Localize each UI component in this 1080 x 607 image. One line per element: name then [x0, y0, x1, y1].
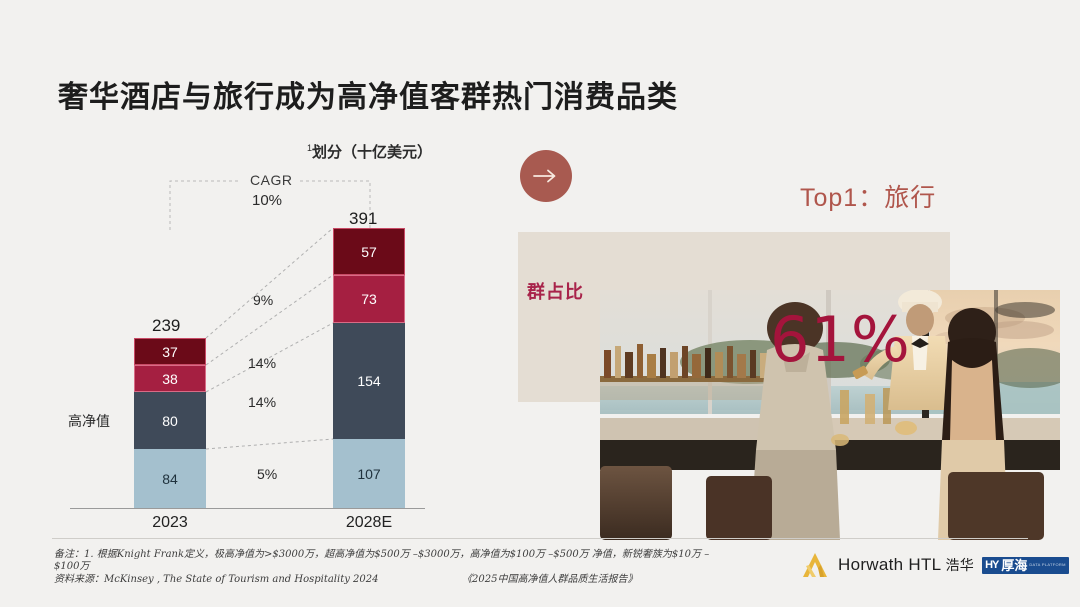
chart-connector-lines	[0, 0, 500, 540]
share-label: 群占比	[527, 278, 584, 304]
top1-heading: Top1：旅行	[800, 178, 936, 214]
cagr-label: CAGR	[250, 172, 292, 188]
logo-primary-label: Horwath HTL	[838, 555, 941, 574]
connector-cagr-3: 14%	[248, 394, 276, 410]
logo-row: Horwath HTL浩华 HY 厚海 DATA PLATFORM	[800, 552, 1069, 578]
chart-unit-text: 划分（十亿美元）	[312, 144, 432, 161]
bar-total-2023: 239	[152, 316, 180, 336]
bar-segment-2023-jigaojingzhi[interactable]: 37	[134, 338, 206, 365]
footnote-definition-line1: 备注：1. 根据Knight Frank定义，极高净值为>$3000万，超高净值…	[54, 545, 709, 560]
footer-divider	[52, 538, 1028, 539]
bar-column-2028[interactable]: 57 73 154 107	[333, 228, 405, 508]
houhai-cn-label: 厚海	[1001, 559, 1027, 572]
arrow-right-icon[interactable]	[520, 150, 572, 202]
bar-column-2023[interactable]: 37 38 80 84	[134, 338, 206, 508]
bar-segment-2028-jigaojingzhi[interactable]: 57	[333, 228, 405, 275]
bar-total-2028: 391	[349, 209, 377, 229]
percentage-value: 61%	[770, 303, 911, 376]
footnote-source: 资料来源：McKinsey , The State of Tourism and…	[54, 570, 379, 585]
footnote-report-title: 《2025中国高净值人群品质生活报告》	[462, 570, 637, 585]
axis-tick-2023: 2023	[120, 514, 220, 532]
connector-cagr-4: 5%	[257, 466, 277, 482]
arrow-right-glyph	[533, 169, 559, 183]
bar-segment-2023-xinruishezu[interactable]: 84	[134, 449, 206, 508]
cagr-value: 10%	[252, 192, 282, 209]
houhai-mark-label: HY	[985, 560, 998, 571]
chart-axis-line	[70, 508, 425, 509]
houhai-logo: HY 厚海 DATA PLATFORM	[982, 557, 1069, 574]
series-label-gaojingzhi: 高净值	[68, 411, 110, 431]
logo-primary-cn-label: 浩华	[945, 557, 974, 573]
bar-segment-2028-gaojingzhi[interactable]: 154	[333, 323, 405, 439]
bar-segment-2028-chaogaojingzhi[interactable]: 73	[333, 275, 405, 323]
connector-cagr-2: 14%	[248, 355, 276, 371]
connector-cagr-1: 9%	[253, 292, 273, 308]
stacked-bar-chart: 1划分（十亿美元） CAGR 10% 239 391 37 38 80 84 5…	[0, 0, 500, 540]
houhai-sub-label: DATA PLATFORM	[1029, 563, 1065, 567]
bar-segment-2028-xinruishezu[interactable]: 107	[333, 439, 405, 508]
bar-segment-2023-chaogaojingzhi[interactable]: 38	[134, 365, 206, 392]
chart-unit-label: 1划分（十亿美元）	[307, 141, 432, 162]
axis-tick-2028: 2028E	[319, 514, 419, 532]
horwath-mountain-icon	[800, 552, 830, 578]
horwath-logo-text: Horwath HTL浩华	[838, 555, 974, 575]
bar-segment-2023-gaojingzhi[interactable]: 80	[134, 392, 206, 449]
